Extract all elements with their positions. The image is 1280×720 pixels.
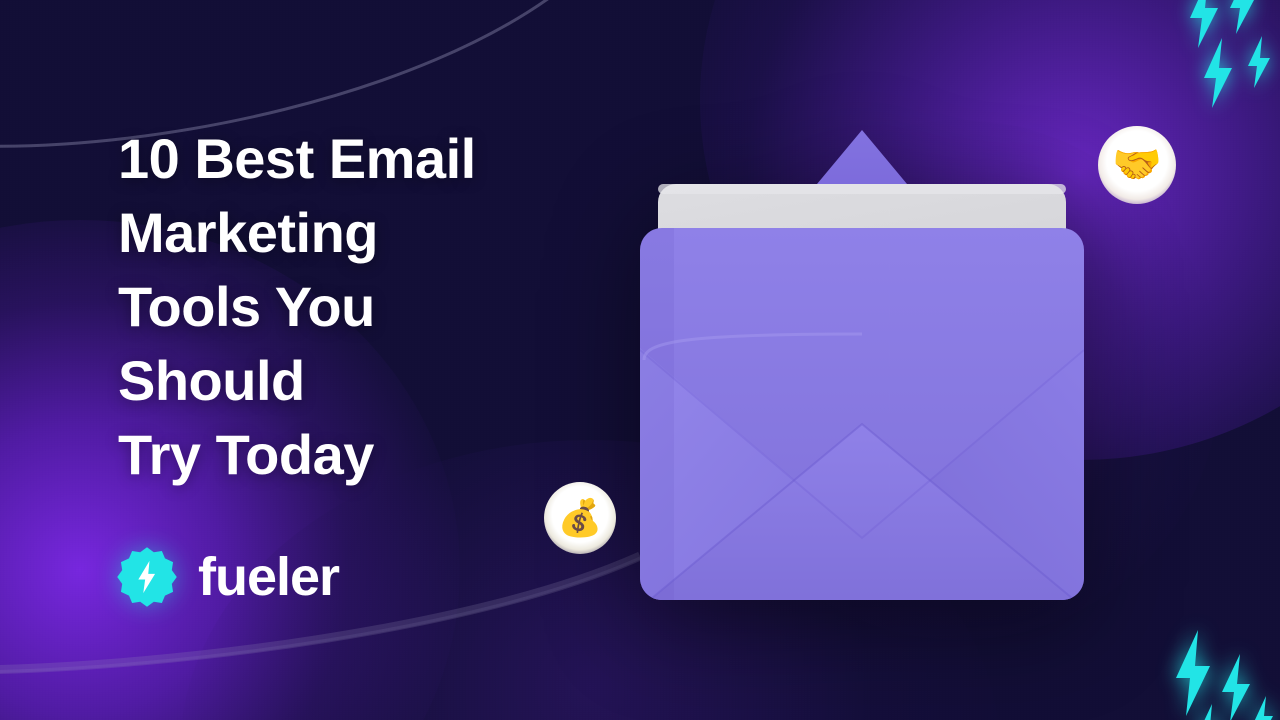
envelope-front-panel — [640, 228, 1084, 608]
handshake-icon: 🤝 — [1112, 145, 1162, 185]
handshake-emoji-badge: 🤝 — [1098, 126, 1176, 204]
logo-wordmark: fueler — [198, 550, 339, 604]
money-bag-emoji-badge: 💰 — [544, 482, 616, 554]
page-title: 10 Best Email Marketing Tools You Should… — [118, 122, 598, 492]
open-envelope-illustration — [622, 108, 1102, 608]
fueler-logo[interactable]: fueler — [116, 546, 339, 608]
lightning-bolt-badge-icon — [116, 546, 178, 608]
money-bag-icon: 💰 — [558, 500, 603, 536]
cover-graphic: 10 Best Email Marketing Tools You Should… — [0, 0, 1280, 720]
